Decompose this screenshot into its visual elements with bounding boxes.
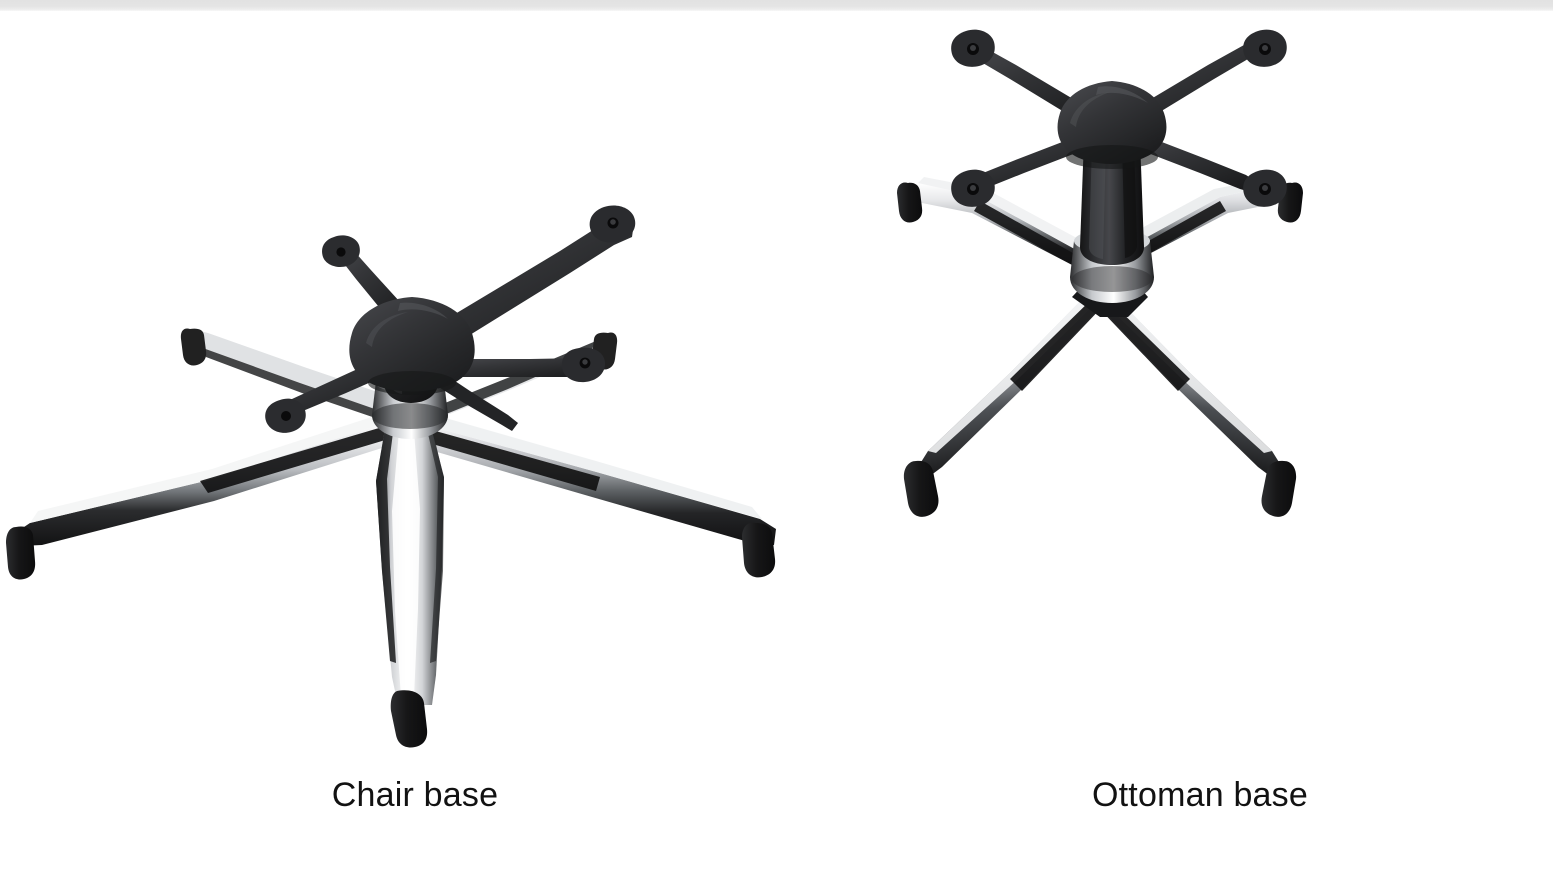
chair-base-image xyxy=(0,11,830,771)
glide-nw xyxy=(897,182,922,222)
glide-left xyxy=(6,526,35,579)
top-edge-strip xyxy=(0,0,1553,11)
chair-swivel-plate xyxy=(265,205,635,432)
product-comparison-page: Chair base xyxy=(0,0,1553,887)
ottoman-leg-sw xyxy=(904,289,1104,517)
ottoman-base-image xyxy=(860,11,1540,771)
chair-base-caption: Chair base xyxy=(0,776,830,815)
product-card-chair-base[interactable]: Chair base xyxy=(0,11,830,887)
ottoman-leg-se xyxy=(1096,289,1296,517)
glide-right xyxy=(742,523,775,578)
glide-front xyxy=(391,690,427,747)
chair-leg-right xyxy=(406,409,776,577)
products-row: Chair base xyxy=(0,11,1553,887)
ottoman-base-caption: Ottoman base xyxy=(860,776,1540,815)
product-card-ottoman-base[interactable]: Ottoman base xyxy=(860,11,1540,887)
chair-leg-left xyxy=(6,409,404,580)
chair-leg-front xyxy=(376,423,444,748)
